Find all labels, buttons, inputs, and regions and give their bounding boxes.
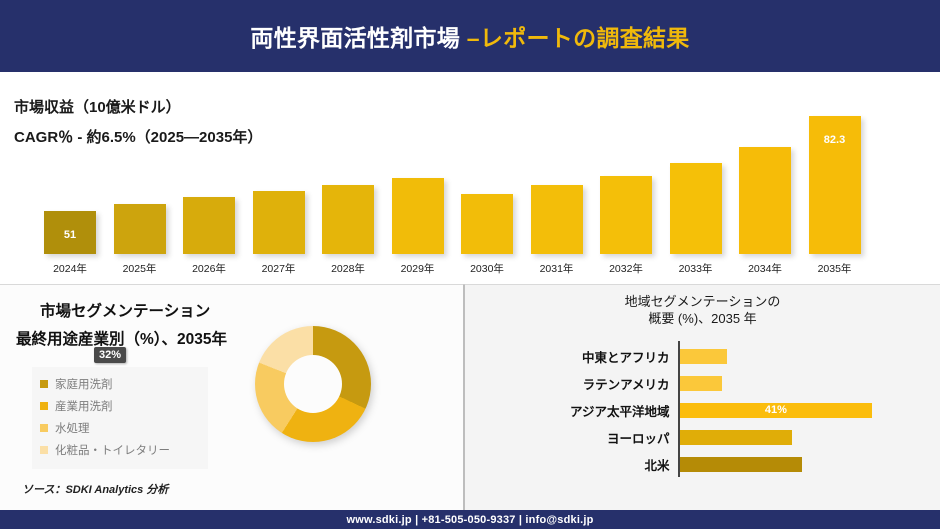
legend-item-label: 産業用洗剤 (55, 398, 113, 414)
revenue-axis-tick: 2025年 (109, 261, 171, 276)
revenue-bar-2025年 (114, 204, 166, 254)
legend-swatch-icon (40, 424, 48, 432)
donut-callout-label: 32% (94, 347, 126, 363)
revenue-bar-2032年 (600, 176, 652, 254)
legend-item-label: 化粧品・トイレタリー (55, 442, 170, 458)
revenue-axis-tick: 2027年 (248, 261, 310, 276)
regional-category-label: アジア太平洋地域 (570, 401, 670, 420)
revenue-bar-value: 51 (44, 229, 96, 241)
revenue-axis-tick: 2028年 (317, 261, 379, 276)
regional-title-line2: 概要 (%)、2035 年 (648, 311, 756, 326)
revenue-chart-block: 市場収益（10億米ドル） CAGR％ - 約6.5%（2025—2035年） 5… (0, 74, 940, 282)
legend-item-label: 水処理 (55, 420, 90, 436)
regional-row-アジア太平洋地域: アジア太平洋地域41% (465, 397, 940, 423)
legend-item-label: 家庭用洗剤 (55, 376, 113, 392)
regional-bar-value: 41% (680, 403, 873, 418)
regional-bar-rect (680, 457, 802, 472)
segmentation-panel: 市場セグメンテーション 最終用途産業別（%）、2035年 家庭用洗剤産業用洗剤水… (0, 284, 464, 511)
revenue-bar-rect (183, 197, 235, 254)
revenue-bar-value: 82.3 (809, 134, 861, 146)
revenue-bar-2031年 (531, 185, 583, 254)
revenue-bar-rect (600, 176, 652, 254)
revenue-bars-container: 512024年2025年2026年2027年2028年2029年2030年203… (0, 74, 940, 282)
regional-title: 地域セグメンテーションの 概要 (%)、2035 年 (465, 293, 940, 327)
regional-bar-rect (680, 349, 727, 364)
legend-swatch-icon (40, 380, 48, 388)
revenue-bar-2028年 (322, 185, 374, 254)
footer-banner: www.sdki.jp | +81-505-050-9337 | info@sd… (0, 510, 940, 529)
regional-row-北米: 北米 (465, 451, 940, 477)
regional-bar-rect (680, 430, 793, 445)
regional-category-label: ラテンアメリカ (583, 374, 670, 393)
regional-bar-rect: 41% (680, 403, 873, 418)
regional-chart: 中東とアフリカラテンアメリカアジア太平洋地域41%ヨーロッパ北米 (465, 337, 940, 497)
legend-item-3: 水処理 (40, 417, 200, 439)
revenue-bar-2029年 (392, 178, 444, 254)
revenue-bar-2027年 (253, 191, 305, 254)
revenue-axis-tick: 2024年 (39, 261, 101, 276)
regional-row-ヨーロッパ: ヨーロッパ (465, 424, 940, 450)
revenue-axis-tick: 2029年 (387, 261, 449, 276)
regional-panel: 地域セグメンテーションの 概要 (%)、2035 年 中東とアフリカラテンアメリ… (464, 284, 940, 511)
revenue-axis-tick: 2034年 (734, 261, 796, 276)
revenue-bar-rect (253, 191, 305, 254)
revenue-axis-tick: 2031年 (526, 261, 588, 276)
regional-row-中東とアフリカ: 中東とアフリカ (465, 343, 940, 369)
revenue-bar-rect (392, 178, 444, 254)
revenue-bar-2035年: 82.3 (809, 116, 861, 254)
revenue-axis-tick: 2035年 (804, 261, 866, 276)
revenue-bar-2030年 (461, 194, 513, 254)
revenue-axis-tick: 2030年 (456, 261, 518, 276)
page-title-accent: –レポートの調査結果 (467, 25, 690, 51)
revenue-axis-tick: 2032年 (595, 261, 657, 276)
revenue-bar-2026年 (183, 197, 235, 254)
revenue-bar-rect (531, 185, 583, 254)
regional-category-label: 中東とアフリカ (582, 347, 670, 366)
donut-chart (255, 326, 371, 442)
revenue-bar-2024年: 51 (44, 211, 96, 254)
regional-category-label: 北米 (644, 455, 669, 474)
revenue-bar-rect (670, 163, 722, 254)
segmentation-title-line1: 市場セグメンテーション (40, 299, 210, 321)
revenue-bar-2034年 (739, 147, 791, 254)
infographic-page: 両性界面活性剤市場 –レポートの調査結果 市場収益（10億米ドル） CAGR％ … (0, 0, 940, 529)
legend-swatch-icon (40, 402, 48, 410)
revenue-bar-2033年 (670, 163, 722, 254)
legend-item-4: 化粧品・トイレタリー (40, 439, 200, 461)
regional-category-label: ヨーロッパ (607, 428, 670, 447)
legend-item-2: 産業用洗剤 (40, 395, 200, 417)
regional-row-ラテンアメリカ: ラテンアメリカ (465, 370, 940, 396)
revenue-axis-tick: 2026年 (178, 261, 240, 276)
revenue-bar-rect (461, 194, 513, 254)
footer-contact-text: www.sdki.jp | +81-505-050-9337 | info@sd… (346, 514, 593, 526)
revenue-bar-rect (322, 185, 374, 254)
regional-title-line1: 地域セグメンテーションの (625, 294, 781, 309)
donut-hole (284, 355, 342, 413)
page-title-main: 両性界面活性剤市場 (250, 25, 466, 51)
legend-item-1: 家庭用洗剤 (40, 373, 200, 395)
page-title: 両性界面活性剤市場 –レポートの調査結果 (250, 19, 689, 53)
revenue-bar-rect: 82.3 (809, 116, 861, 254)
segmentation-title-line2: 最終用途産業別（%）、2035年 (16, 327, 227, 349)
header-banner: 両性界面活性剤市場 –レポートの調査結果 (0, 0, 940, 74)
source-note: ソース：SDKI Analytics 分析 (22, 481, 168, 497)
revenue-axis-tick: 2033年 (665, 261, 727, 276)
revenue-bar-rect (739, 147, 791, 254)
regional-bar-rect (680, 376, 722, 391)
segmentation-legend: 家庭用洗剤産業用洗剤水処理化粧品・トイレタリー (32, 367, 208, 469)
revenue-bar-rect: 51 (44, 211, 96, 254)
bottom-panels: 市場セグメンテーション 最終用途産業別（%）、2035年 家庭用洗剤産業用洗剤水… (0, 284, 940, 510)
revenue-bar-rect (114, 204, 166, 254)
legend-swatch-icon (40, 446, 48, 454)
